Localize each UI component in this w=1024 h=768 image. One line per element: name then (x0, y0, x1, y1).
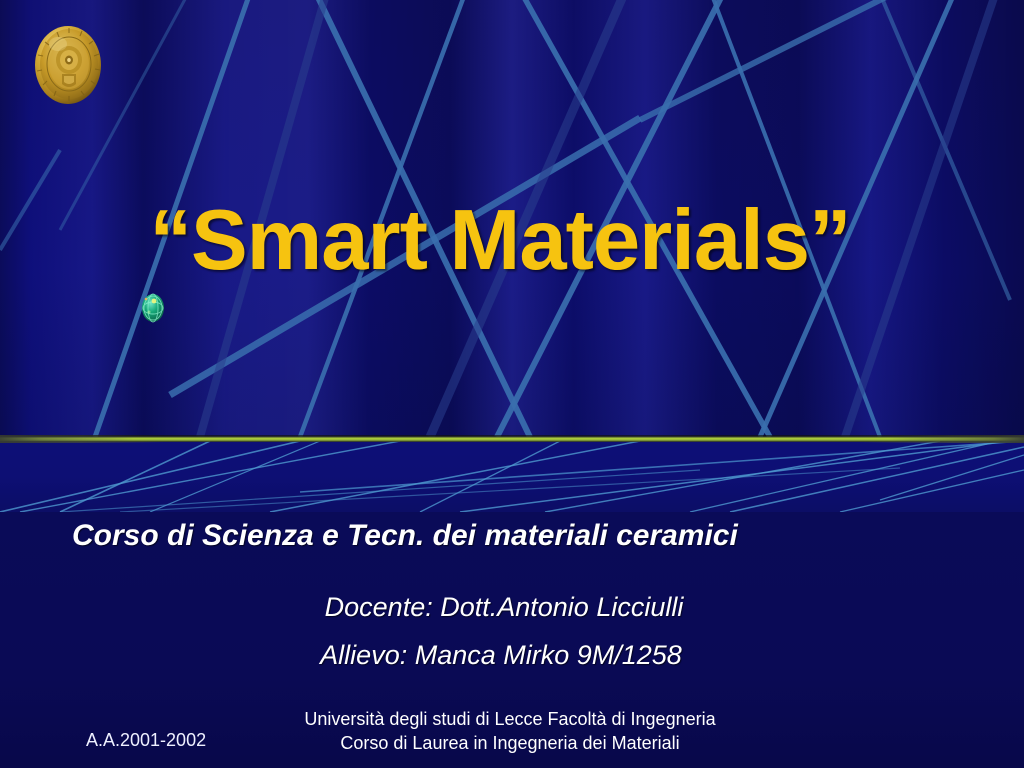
green-globe-bullet-icon (140, 292, 166, 324)
presentation-slide: “Smart Materials” Corso di Scienza e Tec… (0, 0, 1024, 768)
page-title: “Smart Materials” (0, 198, 1024, 283)
footer-program-line: Corso di Laurea in Ingegneria dei Materi… (0, 731, 1020, 755)
course-title: Corso di Scienza e Tecn. dei materiali c… (72, 519, 972, 553)
university-seal-icon (28, 22, 108, 106)
footer-institution: Università degli studi di Lecce Facoltà … (0, 707, 1024, 755)
student-line: Allievo: Manca Mirko 9M/1258 (0, 640, 1024, 671)
teacher-line: Docente: Dott.Antonio Licciulli (0, 592, 1024, 623)
footer-university-line: Università degli studi di Lecce Facoltà … (0, 707, 1020, 731)
horizontal-divider (0, 435, 1024, 442)
